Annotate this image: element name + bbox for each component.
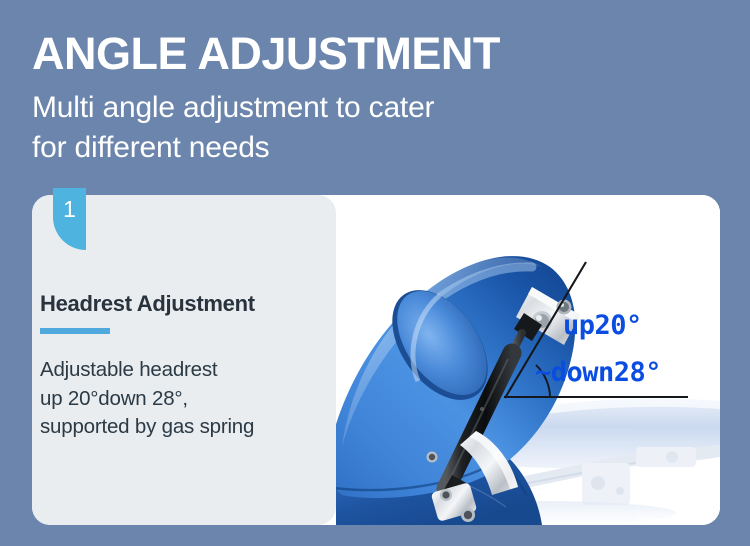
page-subtitle: Multi angle adjustment to cater for diff… xyxy=(32,88,434,168)
promo-banner: ANGLE ADJUSTMENT Multi angle adjustment … xyxy=(0,0,750,546)
feature-description: Adjustable headrest up 20°down 28°, supp… xyxy=(40,356,254,442)
feature-heading: Headrest Adjustment xyxy=(40,291,255,317)
description-line-2: up 20°down 28°, xyxy=(40,385,254,414)
description-line-3: supported by gas spring xyxy=(40,413,254,442)
description-line-1: Adjustable headrest xyxy=(40,356,254,385)
angle-label-up: up20° xyxy=(563,310,642,341)
product-photo xyxy=(336,195,720,525)
subtitle-line-2: for different needs xyxy=(32,128,434,168)
page-title: ANGLE ADJUSTMENT xyxy=(32,30,500,77)
angle-label-down: ~down28° xyxy=(535,357,661,388)
subtitle-line-1: Multi angle adjustment to cater xyxy=(32,88,434,128)
step-number-label: 1 xyxy=(53,196,86,223)
treatment-table-illustration xyxy=(336,195,720,525)
heading-underline-rule xyxy=(40,328,110,334)
